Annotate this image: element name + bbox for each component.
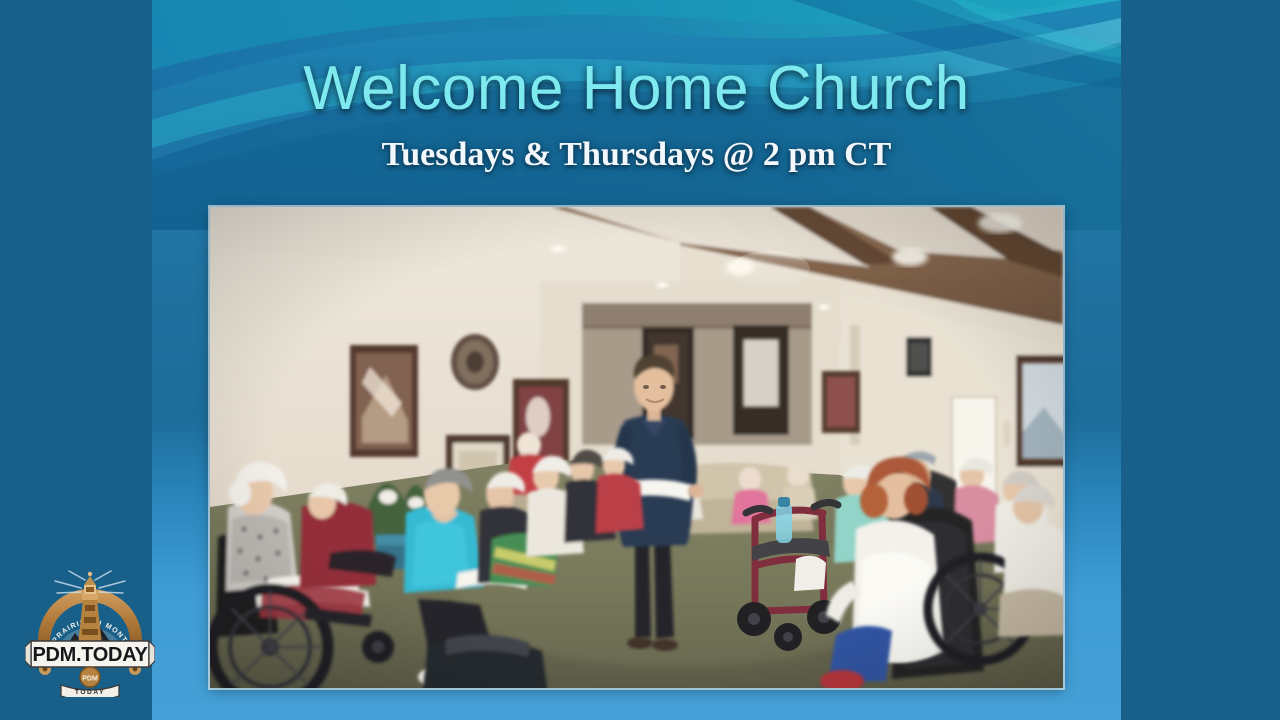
- pdm-today-logo[interactable]: PRAIRIE DU MONT: [25, 565, 155, 697]
- slide-subtitle: Tuesdays & Thursdays @ 2 pm CT: [152, 120, 1121, 172]
- logo-ribbon-text: TODAY: [75, 689, 105, 696]
- pdm-today-logo-icon: PRAIRIE DU MONT: [25, 565, 155, 697]
- logo-seal-text: PDM: [82, 676, 98, 683]
- slide-header: Welcome Home Church Tuesdays & Thursdays…: [152, 0, 1121, 172]
- page-title: Welcome Home Church: [152, 0, 1121, 120]
- presentation-slide: Welcome Home Church Tuesdays & Thursdays…: [152, 0, 1121, 720]
- video-frame: Welcome Home Church Tuesdays & Thursdays…: [0, 0, 1280, 720]
- logo-banner-text: PDM.TODAY: [32, 644, 148, 666]
- community-room-photo: [210, 207, 1063, 688]
- photo-illustration: [210, 207, 1063, 688]
- photo-frame: [210, 207, 1063, 688]
- letterbox-right: [1120, 0, 1280, 720]
